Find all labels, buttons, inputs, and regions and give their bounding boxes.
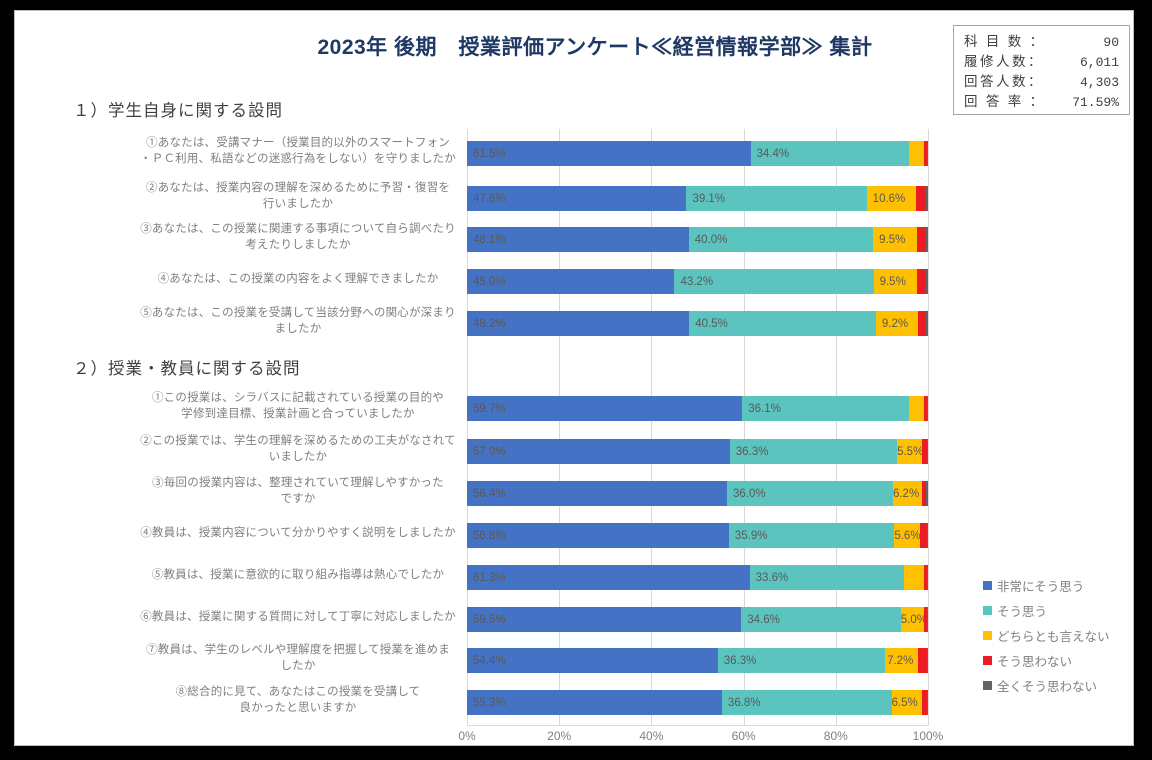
bar-segment: 9.5%: [874, 269, 918, 294]
bar-value-label: 36.8%: [722, 697, 761, 709]
x-tick-label: 60%: [732, 729, 756, 743]
question-label-line: ④あなたは、この授業の内容をよく理解できましたか: [133, 271, 463, 287]
gridline: [559, 129, 560, 726]
bar-segment: 61.5%: [467, 141, 751, 166]
bar-segment: 54.4%: [467, 648, 718, 673]
question-label: ①この授業は、シラバスに記載されている授業の目的や学修到達目標、授業計画と合って…: [133, 390, 463, 422]
bar-segment: [904, 565, 924, 590]
question-label: ②あなたは、授業内容の理解を深めるために予習・復習を行いましたか: [133, 180, 463, 212]
gridline: [836, 129, 837, 726]
question-label: ⑦教員は、学生のレベルや理解度を把握して授業を進めましたか: [133, 642, 463, 674]
question-label: ④教員は、授業内容について分かりやすく説明をしましたか: [133, 525, 463, 541]
question-label-line: ⑤あなたは、この授業を受講して当該分野への関心が深まり: [133, 305, 463, 321]
legend-item[interactable]: どちらとも言えない: [983, 623, 1110, 648]
stat-label: 回 答 率 ：: [964, 92, 1046, 111]
stacked-bar: 59.7%36.1%: [467, 396, 928, 421]
bar-segment: [909, 396, 925, 421]
bar-value-label: 47.6%: [467, 193, 506, 205]
x-tick-label: 0%: [458, 729, 475, 743]
bar-value-label: 33.6%: [750, 572, 789, 584]
question-label: ⑧総合的に見て、あなたはこの授業を受講して良かったと思いますか: [133, 684, 463, 716]
stacked-bar: 56.8%35.9%5.6%: [467, 523, 928, 548]
gridline: [467, 129, 468, 726]
bar-value-label: 43.2%: [674, 276, 713, 288]
stacked-bar: 48.2%40.5%9.2%: [467, 311, 928, 336]
bar-segment: [918, 311, 926, 336]
question-label-line: ③あなたは、この授業に関連する事項について自ら調べたり: [133, 221, 463, 237]
bar-segment: 34.4%: [751, 141, 910, 166]
stat-value: 6,011: [1080, 53, 1119, 72]
question-label-line: 学修到達目標、授業計画と合っていましたか: [133, 406, 463, 422]
bar-segment: 5.5%: [897, 439, 922, 464]
question-label: ③あなたは、この授業に関連する事項について自ら調べたり考えたりしましたか: [133, 221, 463, 253]
bar-value-label: 40.5%: [689, 318, 728, 330]
legend-item[interactable]: 全くそう思わない: [983, 673, 1110, 698]
bar-segment: 34.6%: [741, 607, 901, 632]
question-label: ④あなたは、この授業の内容をよく理解できましたか: [133, 271, 463, 287]
legend-swatch-icon: [983, 631, 992, 640]
chart-legend: 非常にそう思うそう思うどちらとも言えないそう思わない全くそう思わない: [983, 573, 1110, 698]
legend-item[interactable]: そう思う: [983, 598, 1110, 623]
bar-segment: [917, 269, 926, 294]
stat-label: 回答人数：: [964, 72, 1044, 91]
bar-value-label: 34.6%: [741, 614, 780, 626]
bar-segment: 56.4%: [467, 481, 727, 506]
bar-segment: 59.7%: [467, 396, 742, 421]
bar-segment: [927, 523, 928, 548]
bar-value-label: 57.0%: [467, 446, 506, 458]
question-label-line: ・ＰＣ利用、私語などの迷惑行為をしない）を守りましたか: [133, 151, 463, 167]
section-header-1: １）学生自身に関する設問: [73, 97, 283, 121]
bar-segment: 5.0%: [901, 607, 924, 632]
legend-swatch-icon: [983, 581, 992, 590]
bar-segment: [926, 269, 928, 294]
bar-segment: 6.2%: [893, 481, 922, 506]
bar-value-label: 45.0%: [467, 276, 506, 288]
bar-segment: 7.2%: [885, 648, 918, 673]
bar-segment: 56.8%: [467, 523, 729, 548]
stat-row: 履修人数：6,011: [964, 52, 1119, 72]
question-label: ③毎回の授業内容は、整理されていて理解しやすかったですか: [133, 475, 463, 507]
summary-stats-box: 科 目 数 ：90履修人数：6,011回答人数：4,303回 答 率 ：71.5…: [953, 25, 1130, 115]
bar-value-label: 35.9%: [729, 530, 768, 542]
bar-value-label: 40.0%: [689, 234, 728, 246]
question-label-line: 考えたりしましたか: [133, 237, 463, 253]
bar-value-label: 36.3%: [718, 655, 757, 667]
stacked-bar: 61.3%33.6%: [467, 565, 928, 590]
stacked-bar: 59.5%34.6%5.0%: [467, 607, 928, 632]
question-label: ⑤あなたは、この授業を受講して当該分野への関心が深まりましたか: [133, 305, 463, 337]
question-label-line: ⑥教員は、授業に関する質問に対して丁寧に対応しましたか: [133, 609, 463, 625]
question-label-line: ①あなたは、受講マナー（授業目的以外のスマートフォン: [133, 135, 463, 151]
question-label-line: 行いましたか: [133, 196, 463, 212]
stacked-bar: 54.4%36.3%7.2%: [467, 648, 928, 673]
bar-segment: [927, 439, 928, 464]
x-tick-label: 40%: [639, 729, 663, 743]
slide-panel: 2023年 後期 授業評価アンケート≪経営情報学部≫ 集計 科 目 数 ：90履…: [14, 10, 1134, 746]
stacked-bar: 56.4%36.0%6.2%: [467, 481, 928, 506]
stacked-bar: 57.0%36.3%5.5%: [467, 439, 928, 464]
x-tick-label: 100%: [913, 729, 944, 743]
bar-segment: [927, 141, 928, 166]
bar-segment: 59.5%: [467, 607, 741, 632]
legend-label: 全くそう思わない: [997, 676, 1097, 695]
bar-segment: 55.3%: [467, 690, 722, 715]
bar-segment: 40.0%: [689, 227, 873, 252]
stat-value: 4,303: [1080, 73, 1119, 92]
bar-segment: [926, 481, 928, 506]
x-axis-line: [467, 725, 928, 726]
bar-value-label: 48.2%: [467, 318, 506, 330]
bar-segment: [926, 186, 928, 211]
stacked-bar: 45.0%43.2%9.5%: [467, 269, 928, 294]
bar-segment: [918, 648, 926, 673]
bar-value-label: 36.0%: [727, 488, 766, 500]
question-label-line: ⑦教員は、学生のレベルや理解度を把握して授業を進めま: [133, 642, 463, 658]
bar-segment: 9.2%: [876, 311, 918, 336]
bar-segment: [927, 565, 928, 590]
bar-value-label: 59.5%: [467, 614, 506, 626]
bar-segment: 36.8%: [722, 690, 892, 715]
legend-label: どちらとも言えない: [997, 626, 1110, 645]
x-tick-label: 80%: [824, 729, 848, 743]
question-label-line: したか: [133, 658, 463, 674]
stacked-bar: 55.3%36.8%6.5%: [467, 690, 928, 715]
question-label-line: いましたか: [133, 449, 463, 465]
bar-segment: [926, 311, 928, 336]
bar-segment: 33.6%: [750, 565, 905, 590]
bar-segment: 36.3%: [730, 439, 897, 464]
question-label: ①あなたは、受講マナー（授業目的以外のスマートフォン・ＰＣ利用、私語などの迷惑行…: [133, 135, 463, 167]
bar-segment: [917, 227, 926, 252]
page-title: 2023年 後期 授業評価アンケート≪経営情報学部≫ 集計: [255, 31, 935, 61]
legend-label: 非常にそう思う: [997, 576, 1084, 595]
bar-segment: 61.3%: [467, 565, 750, 590]
bar-value-label: 55.3%: [467, 697, 506, 709]
bar-segment: 48.2%: [467, 311, 689, 336]
stacked-bar: 48.1%40.0%9.5%: [467, 227, 928, 252]
bar-value-label: 9.5%: [873, 234, 905, 246]
question-label-line: ②あなたは、授業内容の理解を深めるために予習・復習を: [133, 180, 463, 196]
question-label-line: ⑤教員は、授業に意欲的に取り組み指導は熱心でしたか: [133, 567, 463, 583]
question-label: ②この授業では、学生の理解を深めるための工夫がなされていましたか: [133, 433, 463, 465]
bar-segment: 40.5%: [689, 311, 876, 336]
bar-value-label: 61.5%: [467, 148, 506, 160]
bar-value-label: 6.5%: [892, 697, 923, 709]
bar-value-label: 56.8%: [467, 530, 506, 542]
gridline: [928, 129, 929, 726]
bar-segment: 43.2%: [674, 269, 873, 294]
bar-value-label: 36.3%: [730, 446, 769, 458]
gridline: [651, 129, 652, 726]
question-label-line: ④教員は、授業内容について分かりやすく説明をしましたか: [133, 525, 463, 541]
question-label-line: ですか: [133, 491, 463, 507]
legend-item[interactable]: 非常にそう思う: [983, 573, 1110, 598]
legend-swatch-icon: [983, 681, 992, 690]
bar-value-label: 59.7%: [467, 403, 506, 415]
x-tick-label: 20%: [547, 729, 571, 743]
bar-segment: 57.0%: [467, 439, 730, 464]
question-label-line: ②この授業では、学生の理解を深めるための工夫がなされて: [133, 433, 463, 449]
bar-segment: 9.5%: [873, 227, 917, 252]
legend-swatch-icon: [983, 606, 992, 615]
bar-value-label: 34.4%: [751, 148, 790, 160]
bar-value-label: 61.3%: [467, 572, 506, 584]
question-label-line: ⑧総合的に見て、あなたはこの授業を受講して: [133, 684, 463, 700]
bar-segment: 36.3%: [718, 648, 885, 673]
bar-value-label: 54.4%: [467, 655, 506, 667]
question-label: ⑥教員は、授業に関する質問に対して丁寧に対応しましたか: [133, 609, 463, 625]
bar-value-label: 7.2%: [885, 655, 918, 667]
bar-segment: 35.9%: [729, 523, 894, 548]
bar-segment: [927, 396, 928, 421]
stat-row: 科 目 数 ：90: [964, 32, 1119, 52]
bar-segment: [927, 648, 928, 673]
bar-value-label: 56.4%: [467, 488, 506, 500]
bar-segment: 5.6%: [894, 523, 920, 548]
bar-value-label: 39.1%: [686, 193, 725, 205]
stat-value: 90: [1103, 33, 1119, 52]
stat-row: 回答人数：4,303: [964, 72, 1119, 92]
stacked-bar: 47.6%39.1%10.6%: [467, 186, 928, 211]
stat-value: 71.59%: [1072, 93, 1119, 112]
stat-row: 回 答 率 ：71.59%: [964, 92, 1119, 112]
screenshot-root: 2023年 後期 授業評価アンケート≪経営情報学部≫ 集計 科 目 数 ：90履…: [0, 0, 1152, 760]
stacked-bar: 61.5%34.4%: [467, 141, 928, 166]
bar-value-label: 9.2%: [876, 318, 908, 330]
bar-value-label: 36.1%: [742, 403, 781, 415]
question-label-line: ①この授業は、シラバスに記載されている授業の目的や: [133, 390, 463, 406]
question-label-line: 良かったと思いますか: [133, 700, 463, 716]
section-header-2: ２）授業・教員に関する設問: [73, 355, 301, 379]
legend-label: そう思わない: [997, 651, 1072, 670]
bar-segment: 39.1%: [686, 186, 866, 211]
legend-swatch-icon: [983, 656, 992, 665]
gridline: [744, 129, 745, 726]
bar-segment: 45.0%: [467, 269, 674, 294]
bar-value-label: 48.1%: [467, 234, 506, 246]
bar-segment: 36.1%: [742, 396, 908, 421]
chart-plot-area: [467, 129, 928, 726]
bar-segment: [927, 607, 928, 632]
bar-segment: 47.6%: [467, 186, 686, 211]
legend-item[interactable]: そう思わない: [983, 648, 1110, 673]
bar-segment: 6.5%: [892, 690, 922, 715]
question-label-line: ③毎回の授業内容は、整理されていて理解しやすかった: [133, 475, 463, 491]
bar-segment: [916, 186, 927, 211]
bar-value-label: 6.2%: [893, 488, 924, 500]
legend-label: そう思う: [997, 601, 1047, 620]
bar-value-label: 10.6%: [867, 193, 906, 205]
bar-segment: [926, 227, 928, 252]
bar-segment: [909, 141, 924, 166]
question-label-line: ましたか: [133, 321, 463, 337]
question-label: ⑤教員は、授業に意欲的に取り組み指導は熱心でしたか: [133, 567, 463, 583]
stat-label: 科 目 数 ：: [964, 32, 1046, 51]
bar-segment: 10.6%: [867, 186, 916, 211]
bar-segment: [927, 690, 928, 715]
bar-segment: 48.1%: [467, 227, 689, 252]
stat-label: 履修人数：: [964, 52, 1044, 71]
bar-segment: 36.0%: [727, 481, 893, 506]
bar-value-label: 9.5%: [874, 276, 906, 288]
